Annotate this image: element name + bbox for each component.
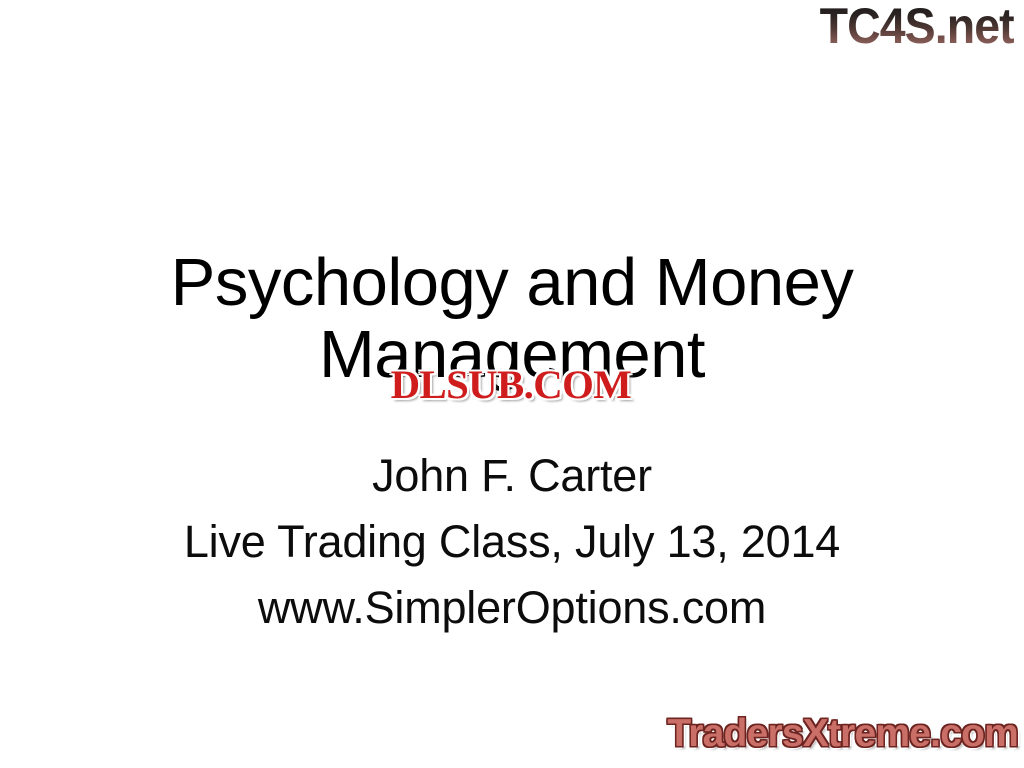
slide-subtitle-presenter: John F. Carter [0,443,1024,509]
presentation-slide: TC4S.net Psychology and Money Management… [0,0,1024,768]
slide-subtitle: John F. Carter Live Trading Class, July … [0,443,1024,641]
slide-subtitle-website: www.SimplerOptions.com [0,575,1024,641]
slide-title-line-1: Psychology and Money [0,247,1024,319]
watermark-dlsub-com: DLSUB.COM [370,364,652,406]
slide-subtitle-class-date: Live Trading Class, July 13, 2014 [0,509,1024,575]
watermark-tc4s-net: TC4S.net [820,1,1014,51]
watermark-tradersxtreme-com: TradersXtreme.com [667,714,1018,754]
watermark-dlsub-com-label: DLSUB.COM [391,365,631,405]
